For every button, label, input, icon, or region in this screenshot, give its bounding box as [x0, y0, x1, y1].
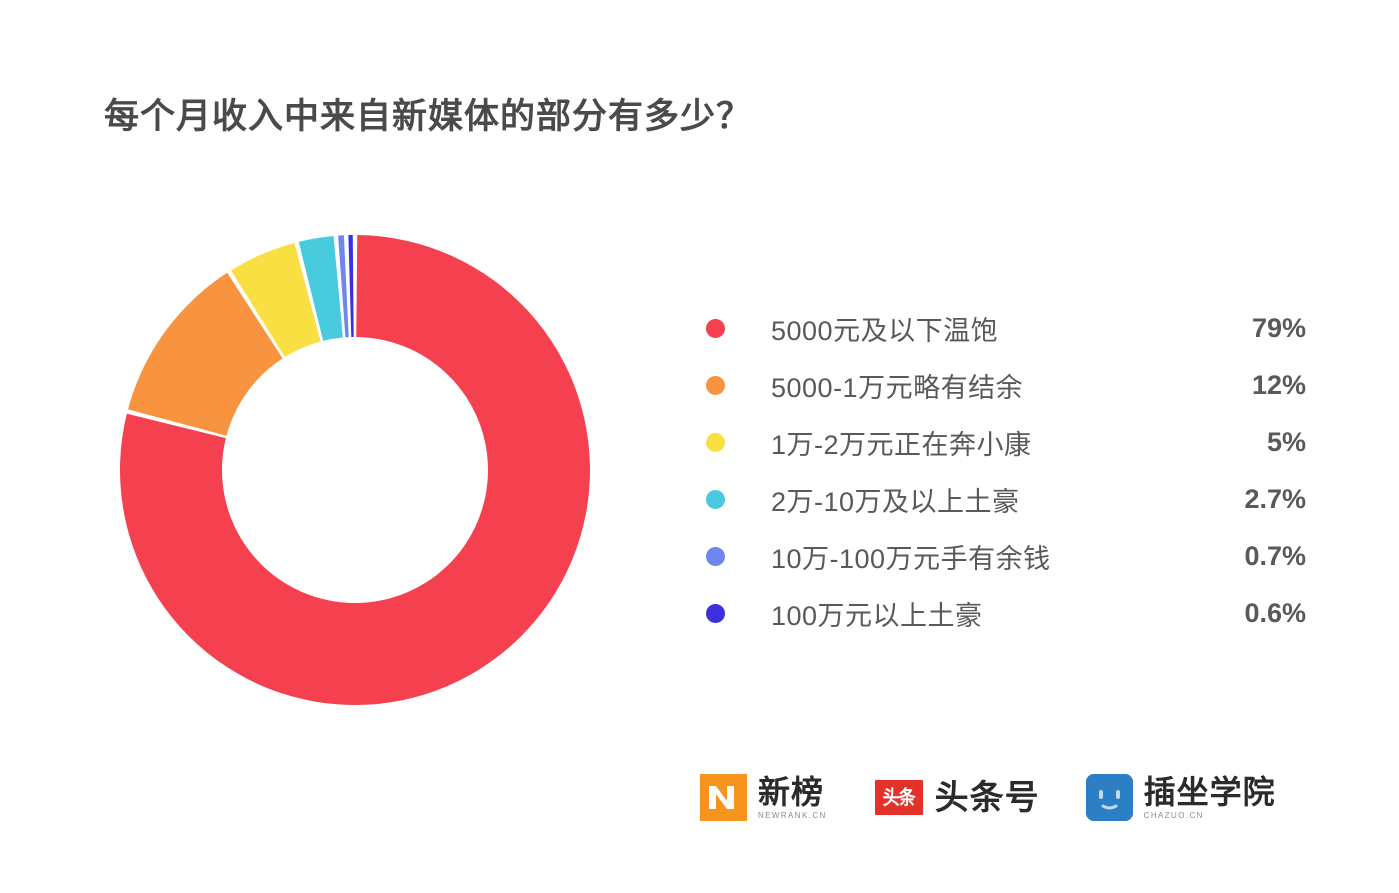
newrank-subtitle: NEWRANK.CN	[758, 811, 827, 820]
legend-item[interactable]: 100万元以上土豪0.6%	[706, 585, 1306, 642]
logo-toutiaohao: 头条 头条号	[875, 780, 1040, 815]
chazuo-name: 插坐学院	[1144, 776, 1276, 808]
legend-item-label: 10万-100万元手有余钱	[771, 537, 1206, 576]
chazuo-mark-icon	[1086, 774, 1133, 821]
legend-item-value: 5%	[1206, 427, 1306, 458]
newrank-name: 新榜	[758, 776, 827, 808]
donut-chart	[118, 233, 592, 707]
legend-item-value: 2.7%	[1206, 484, 1306, 515]
newrank-text: 新榜 NEWRANK.CN	[758, 776, 827, 820]
legend-item[interactable]: 5000-1万元略有结余12%	[706, 357, 1306, 414]
legend-item-label: 5000-1万元略有结余	[771, 366, 1206, 405]
legend-item-value: 0.7%	[1206, 541, 1306, 572]
legend-color-swatch-icon	[706, 490, 725, 509]
toutiaohao-name: 头条号	[935, 781, 1040, 815]
chazuo-text: 插坐学院 CHAZUO.CN	[1144, 776, 1276, 820]
legend-color-swatch-icon	[706, 319, 725, 338]
toutiaohao-mark-label: 头条	[883, 788, 915, 808]
legend-color-swatch-icon	[706, 433, 725, 452]
donut-slice-group	[120, 235, 590, 705]
donut-slice[interactable]	[348, 235, 353, 337]
footer-logo-bar: 新榜 NEWRANK.CN 头条 头条号 插坐学院 CHAZUO.CN	[700, 774, 1276, 821]
legend-color-swatch-icon	[706, 376, 725, 395]
legend-item-label: 5000元及以下温饱	[771, 309, 1206, 348]
legend-item-label: 1万-2万元正在奔小康	[771, 423, 1206, 462]
legend-item[interactable]: 1万-2万元正在奔小康5%	[706, 414, 1306, 471]
legend-color-swatch-icon	[706, 547, 725, 566]
legend-item-value: 0.6%	[1206, 598, 1306, 629]
legend-item[interactable]: 5000元及以下温饱79%	[706, 300, 1306, 357]
page-title: 每个月收入中来自新媒体的部分有多少？	[104, 88, 752, 139]
legend-item[interactable]: 10万-100万元手有余钱0.7%	[706, 528, 1306, 585]
legend-item-value: 79%	[1206, 313, 1306, 344]
logo-chazuo: 插坐学院 CHAZUO.CN	[1086, 774, 1276, 821]
legend-item-value: 12%	[1206, 370, 1306, 401]
newrank-mark-icon	[700, 774, 747, 821]
legend-item-label: 100万元以上土豪	[771, 594, 1206, 633]
toutiaohao-mark-icon: 头条	[875, 780, 923, 815]
legend-color-swatch-icon	[706, 604, 725, 623]
donut-chart-svg	[118, 233, 592, 707]
chart-legend: 5000元及以下温饱79%5000-1万元略有结余12%1万-2万元正在奔小康5…	[706, 300, 1306, 642]
logo-newrank: 新榜 NEWRANK.CN	[700, 774, 827, 821]
legend-item[interactable]: 2万-10万及以上土豪2.7%	[706, 471, 1306, 528]
legend-item-label: 2万-10万及以上土豪	[771, 480, 1206, 519]
chazuo-subtitle: CHAZUO.CN	[1144, 811, 1276, 820]
